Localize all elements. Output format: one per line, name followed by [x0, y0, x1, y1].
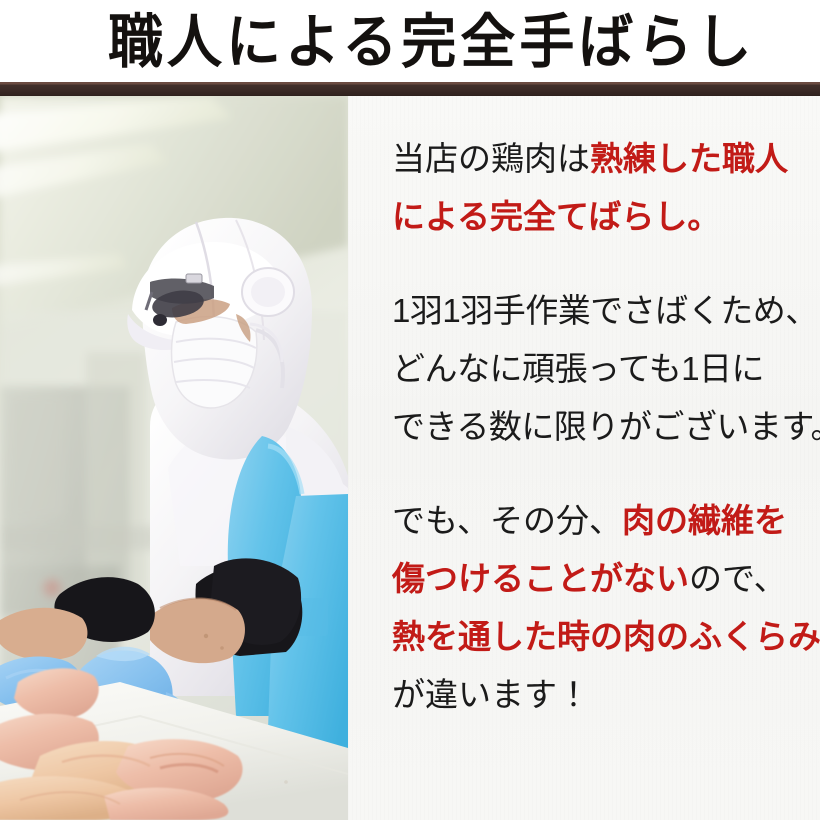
- p1-text-highlight-2: による完全てばらし。: [392, 198, 720, 235]
- paragraph-3-line-2: 傷つけることがないので、: [392, 550, 810, 608]
- paragraph-3-line-4: が違います！: [392, 666, 810, 724]
- paragraph-2: 1羽1羽手作業でさばくため、 どんなに頑張っても1日に できる数に限りがございま…: [392, 282, 810, 456]
- page-title: 職人による完全手ばらし: [108, 12, 755, 70]
- text-panel-inner: 当店の鶏肉は熟練した職人 による完全てばらし。 1羽1羽手作業でさばくため、 ど…: [392, 130, 810, 724]
- p1-text-highlight: 熟練した職人: [590, 140, 788, 177]
- header-divider-bar: [0, 82, 820, 96]
- worker-photo: [0, 96, 348, 820]
- paragraph-3: でも、その分、肉の繊維を 傷つけることがないので、 熱を通した時の肉のふくらみ …: [392, 492, 810, 724]
- p3-text-highlight-3: 熱を通した時の肉のふくらみ: [392, 618, 820, 655]
- paragraph-2-line-3: できる数に限りがございます。: [392, 398, 810, 456]
- paragraph-2-line-2: どんなに頑張っても1日に: [392, 340, 810, 398]
- paragraph-1-line-2: による完全てばらし。: [392, 188, 810, 246]
- paragraph-3-line-3: 熱を通した時の肉のふくらみ: [392, 608, 810, 666]
- p3-text-highlight-2: 傷つけることがない: [392, 560, 689, 597]
- paragraph-2-line-1: 1羽1羽手作業でさばくため、: [392, 282, 810, 340]
- paragraph-1: 当店の鶏肉は熟練した職人 による完全てばらし。: [392, 130, 810, 246]
- paragraph-3-line-1: でも、その分、肉の繊維を: [392, 492, 810, 550]
- worker-photo-illustration: [0, 96, 348, 820]
- p3-text-normal: でも、その分、: [392, 502, 622, 539]
- text-panel: 当店の鶏肉は熟練した職人 による完全てばらし。 1羽1羽手作業でさばくため、 ど…: [348, 96, 820, 820]
- p3-text-highlight: 肉の繊維を: [622, 502, 787, 539]
- content-area: 当店の鶏肉は熟練した職人 による完全てばらし。 1羽1羽手作業でさばくため、 ど…: [0, 96, 820, 820]
- promo-banner: 職人による完全手ばらし: [0, 0, 820, 820]
- p1-text-normal: 当店の鶏肉は: [392, 140, 590, 177]
- p3-text-normal-2: ので、: [689, 560, 787, 597]
- paragraph-1-line-1: 当店の鶏肉は熟練した職人: [392, 130, 810, 188]
- header: 職人による完全手ばらし: [0, 0, 820, 82]
